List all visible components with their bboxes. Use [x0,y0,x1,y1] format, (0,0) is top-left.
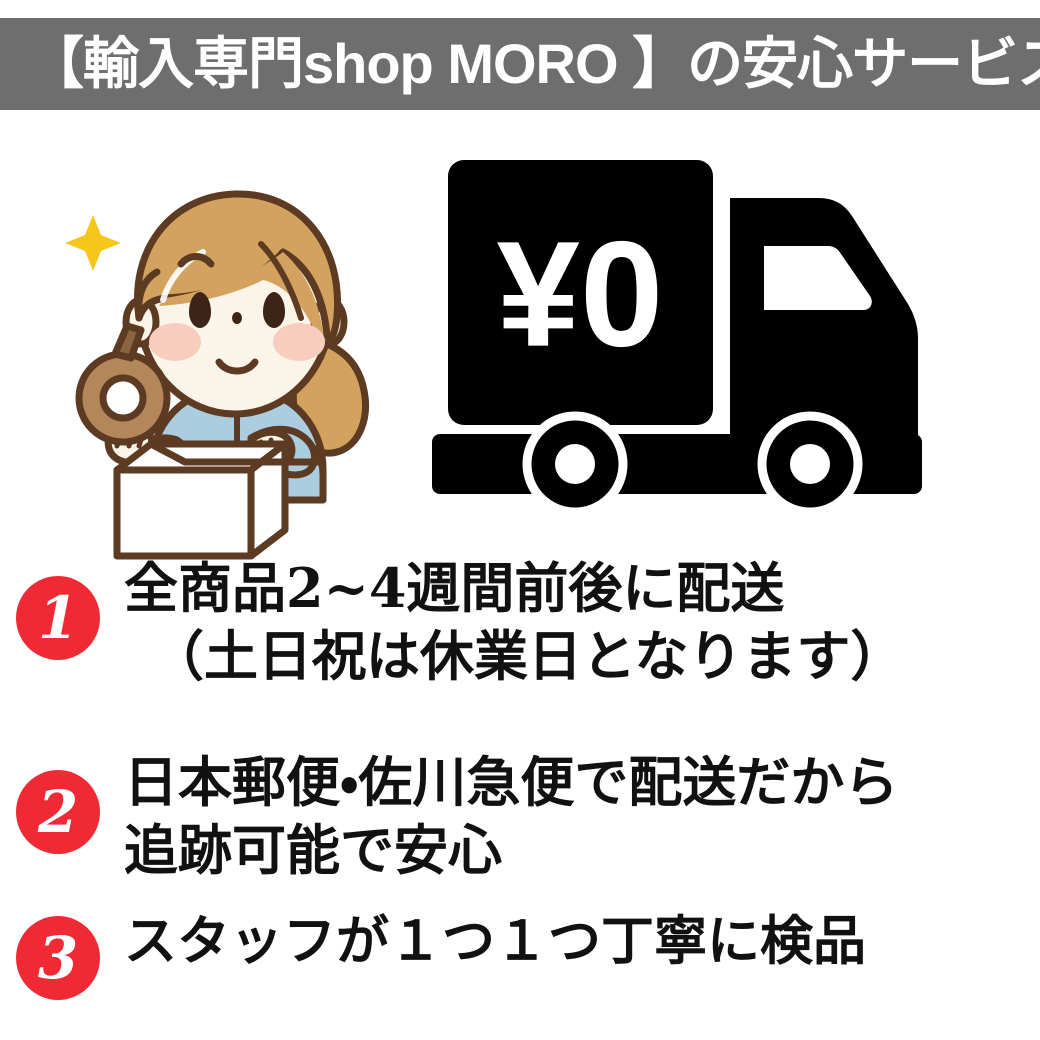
banner-page: 【輸入専門shop MORO 】の安心サービス [0,0,1040,1040]
shipping-fee-label: ¥0 [497,210,664,378]
list-number-badge: 2 [16,770,100,854]
staff-woman-illustration [55,140,415,530]
list-item-text: スタッフが１つ１つ丁寧に検品 [124,908,1040,975]
header-bar: 【輸入専門shop MORO 】の安心サービス [0,18,1040,110]
sparkle-icon [65,215,121,271]
list-item-line: 日本郵便・佐川急便で配送だから [124,748,1040,816]
list-item-text: 日本郵便・佐川急便で配送だから 追跡可能で安心 [124,748,1040,884]
list-item-line: スタッフが１つ１つ丁寧に検品 [124,908,1040,975]
list-item-text: 全商品2~4週間前後に配送 （土日祝は休業日となります） [124,554,1040,690]
list-item-line: 追跡可能で安心 [124,816,1040,884]
free-shipping-truck-illustration: ¥0 [420,146,1000,516]
list-item-line: （土日祝は休業日となります） [124,622,1040,690]
page-title: 【輸入専門shop MORO 】の安心サービス [28,36,1040,92]
list-number-badge: 3 [16,916,100,1000]
list-item-line: 全商品2~4週間前後に配送 [124,554,1040,622]
illustration-area: ¥0 [0,118,1040,536]
list-item: 1 全商品2~4週間前後に配送 （土日祝は休業日となります） [0,554,1040,690]
list-number-badge: 1 [16,576,100,660]
list-item: 3 スタッフが１つ１つ丁寧に検品 [0,908,1040,1000]
list-item: 2 日本郵便・佐川急便で配送だから 追跡可能で安心 [0,748,1040,884]
